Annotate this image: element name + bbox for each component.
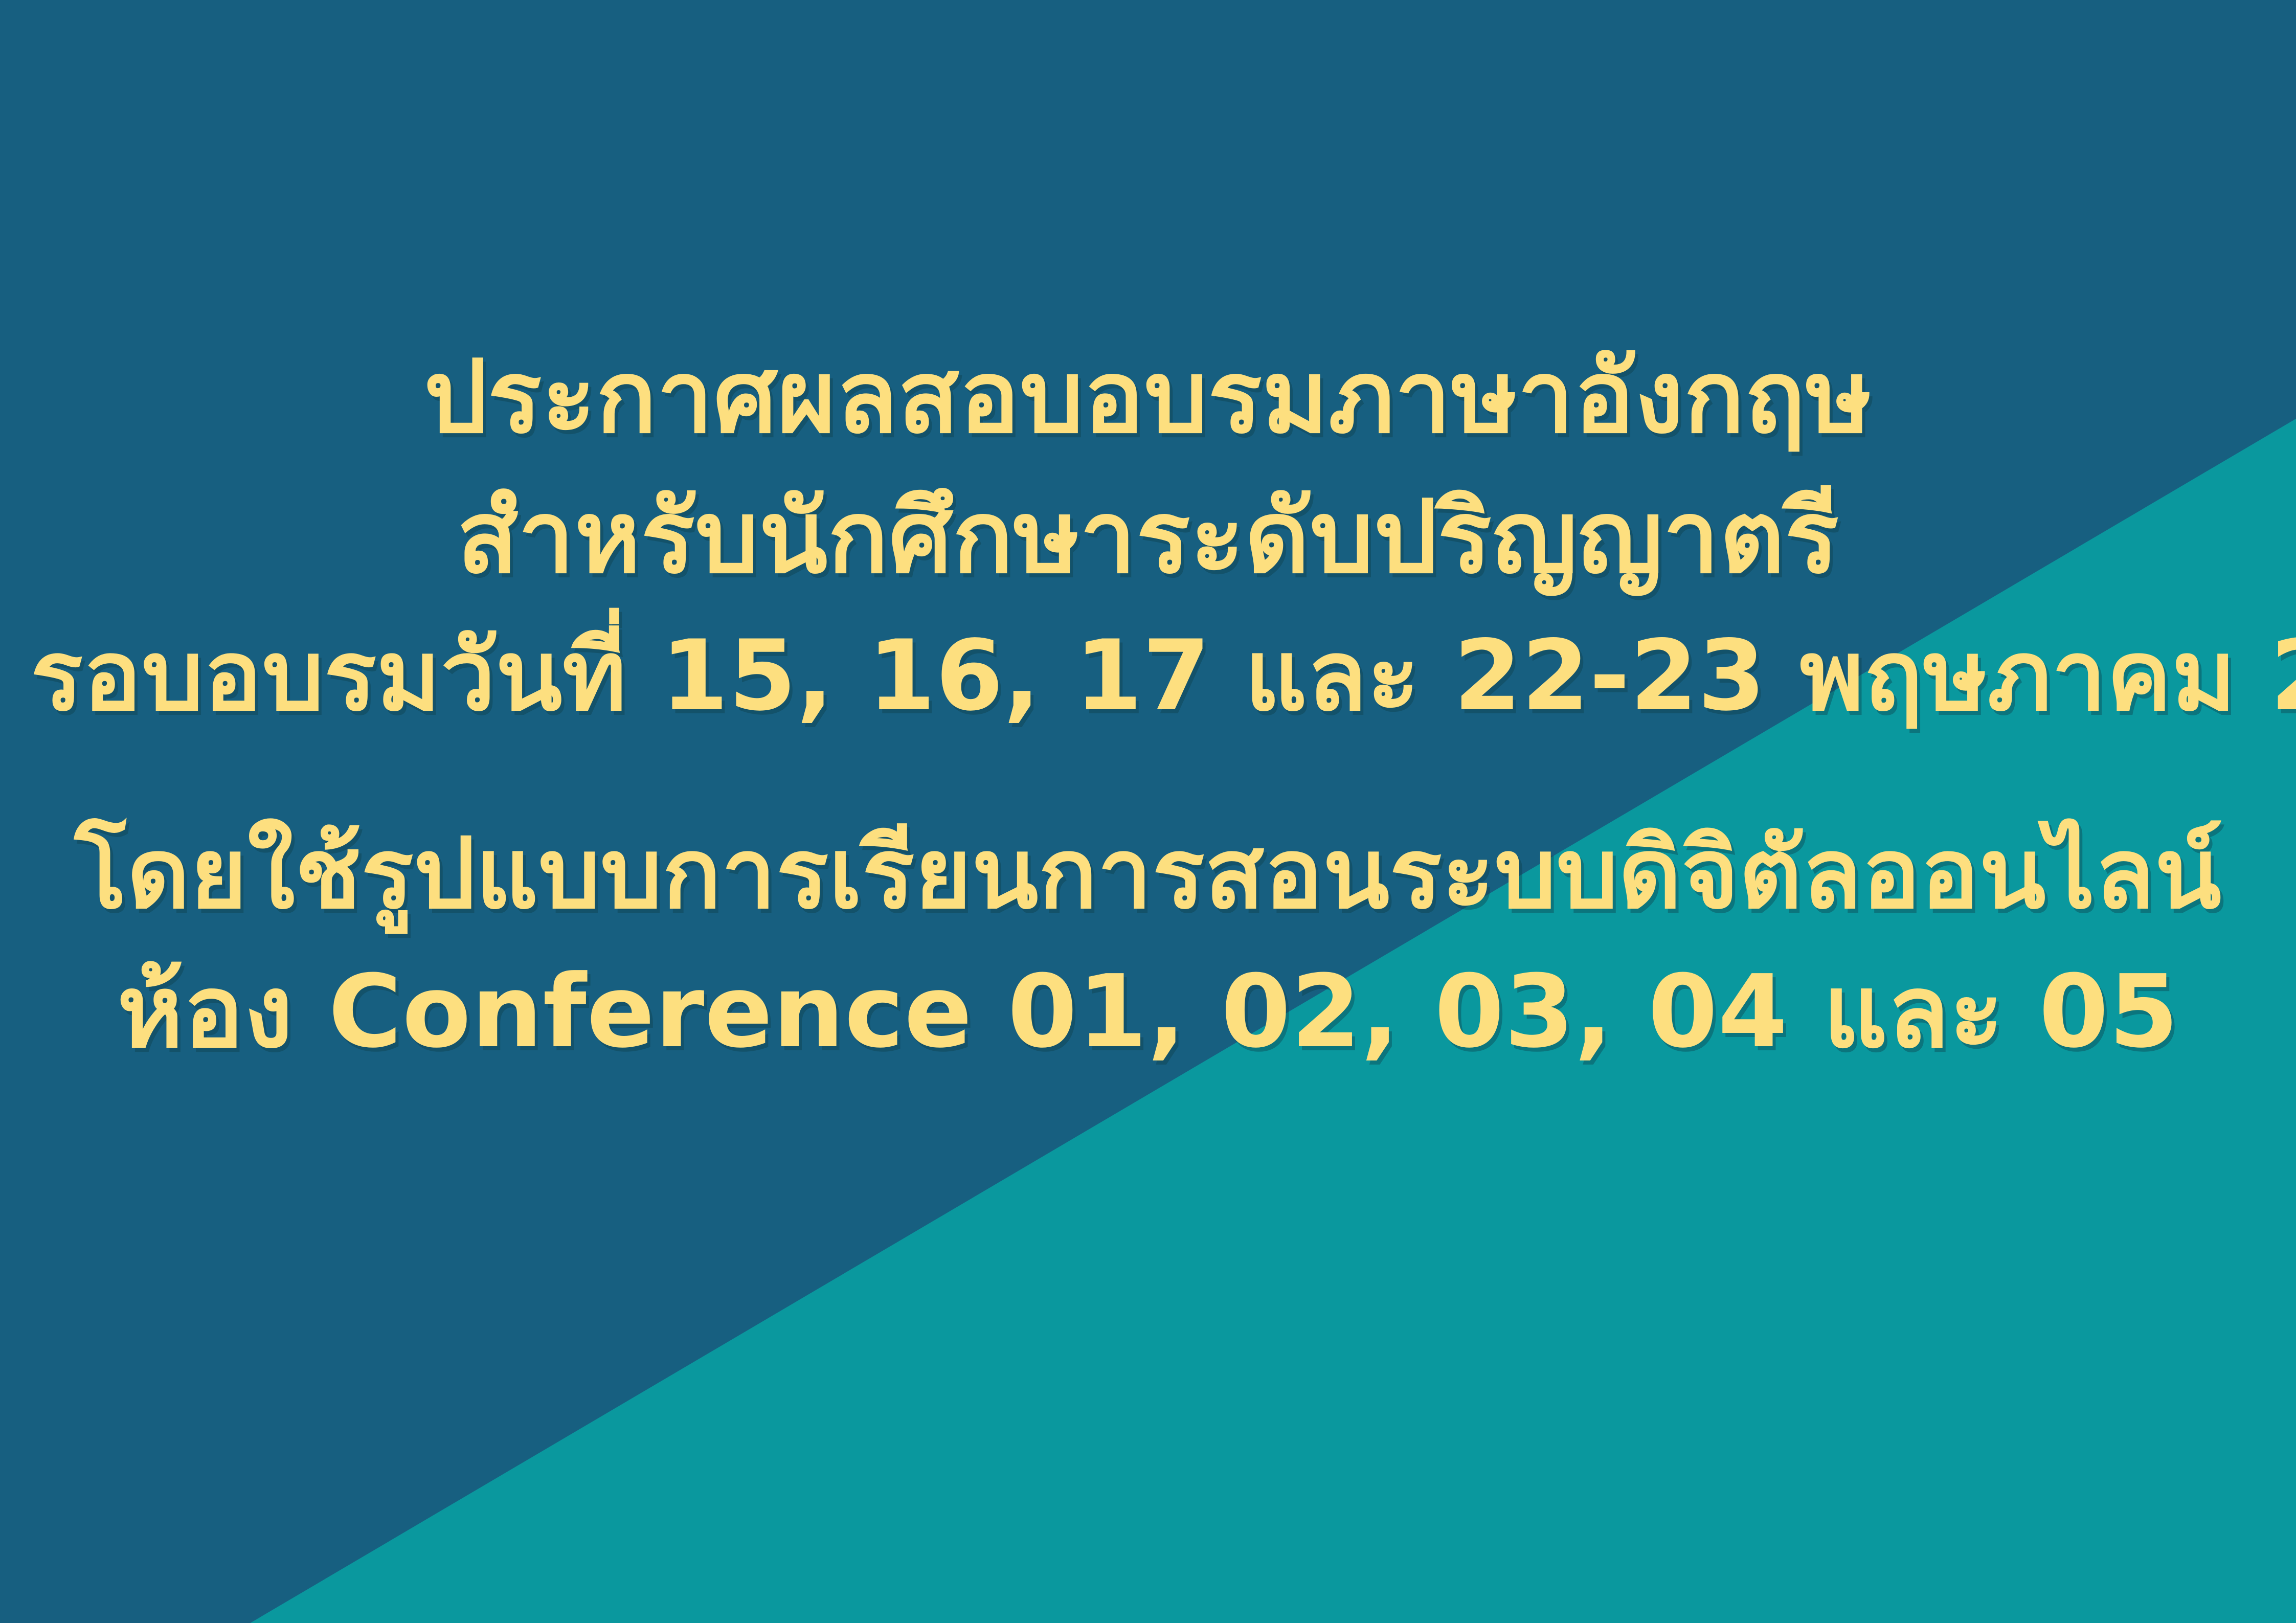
announcement-line-1: ประกาศผลสอบอบรมภาษาอังกฤษ (31, 327, 2265, 467)
announcement-line-3: รอบอบรมวันที่ 15, 16, 17 และ 22-23 พฤษภา… (31, 608, 2265, 744)
announcement-line-5: ห้อง Conference 01, 02, 03, 04 และ 05 (31, 942, 2265, 1082)
announcement-line-4: โดยใช้รูปแบบการเรียนการสอนระบบดิจิตัลออน… (31, 806, 2265, 942)
announcement-text-block: ประกาศผลสอบอบรมภาษาอังกฤษ สำหรับนักศึกษา… (0, 327, 2296, 1083)
announcement-line-gap (31, 744, 2265, 806)
poster-canvas: ประกาศผลสอบอบรมภาษาอังกฤษ สำหรับนักศึกษา… (0, 0, 2296, 1623)
announcement-line-2: สำหรับนักศึกษาระดับปริญญาตรี (31, 467, 2265, 607)
